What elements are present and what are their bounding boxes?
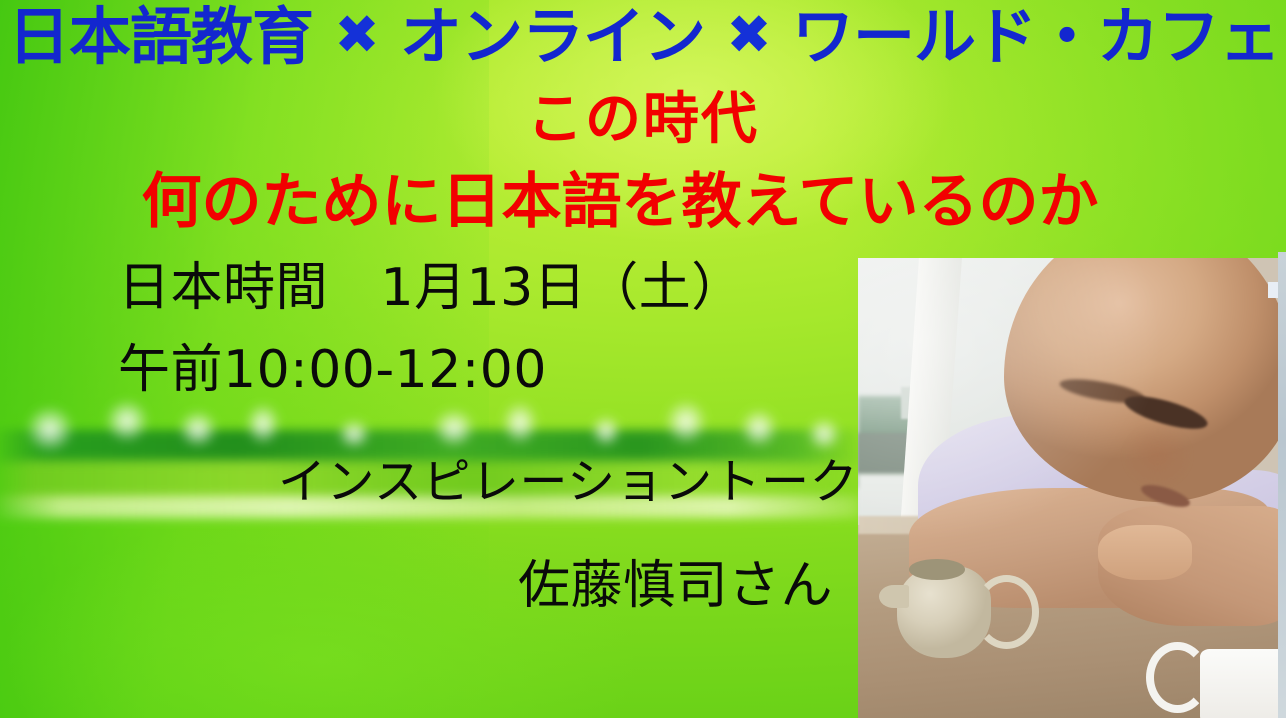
subtitle-line-1: この時代 bbox=[0, 92, 1286, 148]
subtitle-line-2: 何のために日本語を教えているのか bbox=[0, 172, 1240, 232]
title-segment-3: ワールド・カフェ bbox=[792, 6, 1280, 68]
landscape-sparkle bbox=[98, 392, 156, 450]
event-poster: 日本語教育 ✖ オンライン ✖ ワールド・カフェ この時代 何のために日本語を教… bbox=[0, 0, 1286, 718]
title-segment-1: 日本語教育 bbox=[8, 6, 313, 68]
landscape-sparkle bbox=[172, 404, 224, 454]
title-segment-2: オンライン bbox=[400, 6, 705, 68]
landscape-sparkle bbox=[658, 392, 714, 452]
landscape-sparkle bbox=[18, 398, 82, 460]
cross-icon: ✖ bbox=[726, 8, 770, 62]
landscape-sparkle bbox=[734, 402, 784, 454]
photo-edge-highlight bbox=[1268, 282, 1278, 298]
event-date: 日本時間 1月13日（土） bbox=[118, 262, 744, 314]
event-time: 午前10:00-12:00 bbox=[118, 344, 547, 396]
poster-title: 日本語教育 ✖ オンライン ✖ ワールド・カフェ bbox=[8, 6, 1280, 68]
landscape-sparkle bbox=[802, 412, 846, 456]
speaker-photo bbox=[858, 258, 1286, 718]
landscape-sparkle bbox=[496, 394, 544, 452]
photo-light-overlay bbox=[858, 258, 1286, 718]
speaker-name: 佐藤慎司さん bbox=[518, 560, 833, 612]
photo-right-edge-strip bbox=[1278, 252, 1286, 718]
landscape-sparkle bbox=[332, 414, 376, 454]
photo-content bbox=[858, 258, 1286, 718]
landscape-sparkle bbox=[426, 402, 482, 454]
session-label: インスピレーショントーク bbox=[278, 458, 858, 506]
cross-icon: ✖ bbox=[334, 8, 378, 62]
landscape-sparkle bbox=[586, 410, 626, 452]
landscape-sparkle bbox=[240, 396, 286, 452]
